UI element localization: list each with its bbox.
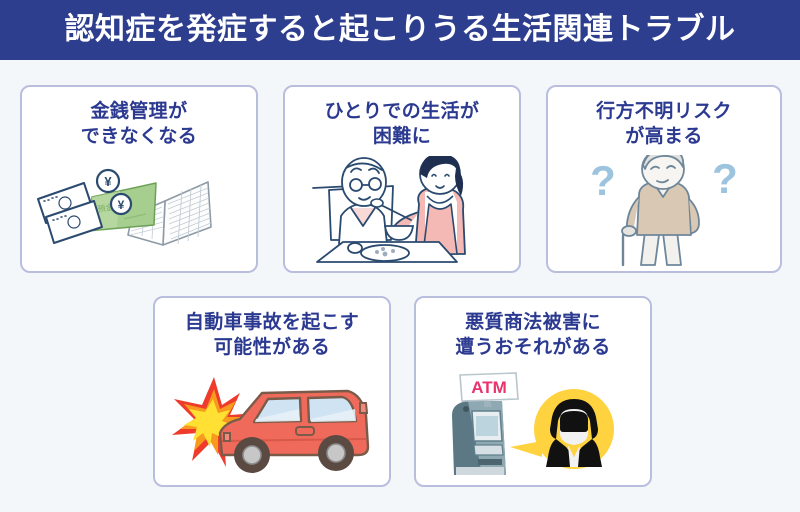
svg-text:?: ? bbox=[712, 155, 738, 202]
car-crash-illustration bbox=[155, 369, 389, 481]
svg-text:?: ? bbox=[590, 157, 616, 204]
card-title: 金銭管理が できなくなる bbox=[22, 99, 256, 149]
card-title: ひとりでの生活が 困難に bbox=[285, 99, 519, 149]
card-title: 自動車事故を起こす 可能性がある bbox=[155, 310, 389, 360]
money-bankbook-ledger-illustration: 預金 通帳 bbox=[22, 155, 256, 267]
trouble-card-fraud[interactable]: 悪質商法被害に 遭うおそれがある ATM bbox=[414, 296, 652, 487]
page-title: 認知症を発症すると起こりうる生活関連トラブル bbox=[65, 15, 736, 45]
page-header: 認知症を発症すると起こりうる生活関連トラブル bbox=[0, 0, 800, 60]
svg-text:¥: ¥ bbox=[104, 174, 112, 189]
svg-text:¥: ¥ bbox=[117, 198, 124, 212]
atm-fraud-illustration: ATM bbox=[416, 369, 650, 481]
trouble-card-car-accident[interactable]: 自動車事故を起こす 可能性がある bbox=[153, 296, 391, 487]
card-title: 行方不明リスク が高まる bbox=[548, 99, 780, 149]
card-title: 悪質商法被害に 遭うおそれがある bbox=[416, 310, 650, 360]
trouble-card-missing[interactable]: 行方不明リスク が高まる ? ? bbox=[546, 85, 782, 273]
lost-elderly-man-with-cane-illustration: ? ? bbox=[548, 155, 780, 267]
trouble-card-care[interactable]: ひとりでの生活が 困難に bbox=[283, 85, 521, 273]
caregiver-feeding-elderly-illustration bbox=[285, 155, 519, 267]
atm-sign-label: ATM bbox=[471, 378, 507, 397]
trouble-card-grid: 金銭管理が できなくなる bbox=[0, 60, 800, 512]
trouble-card-money[interactable]: 金銭管理が できなくなる bbox=[20, 85, 258, 273]
